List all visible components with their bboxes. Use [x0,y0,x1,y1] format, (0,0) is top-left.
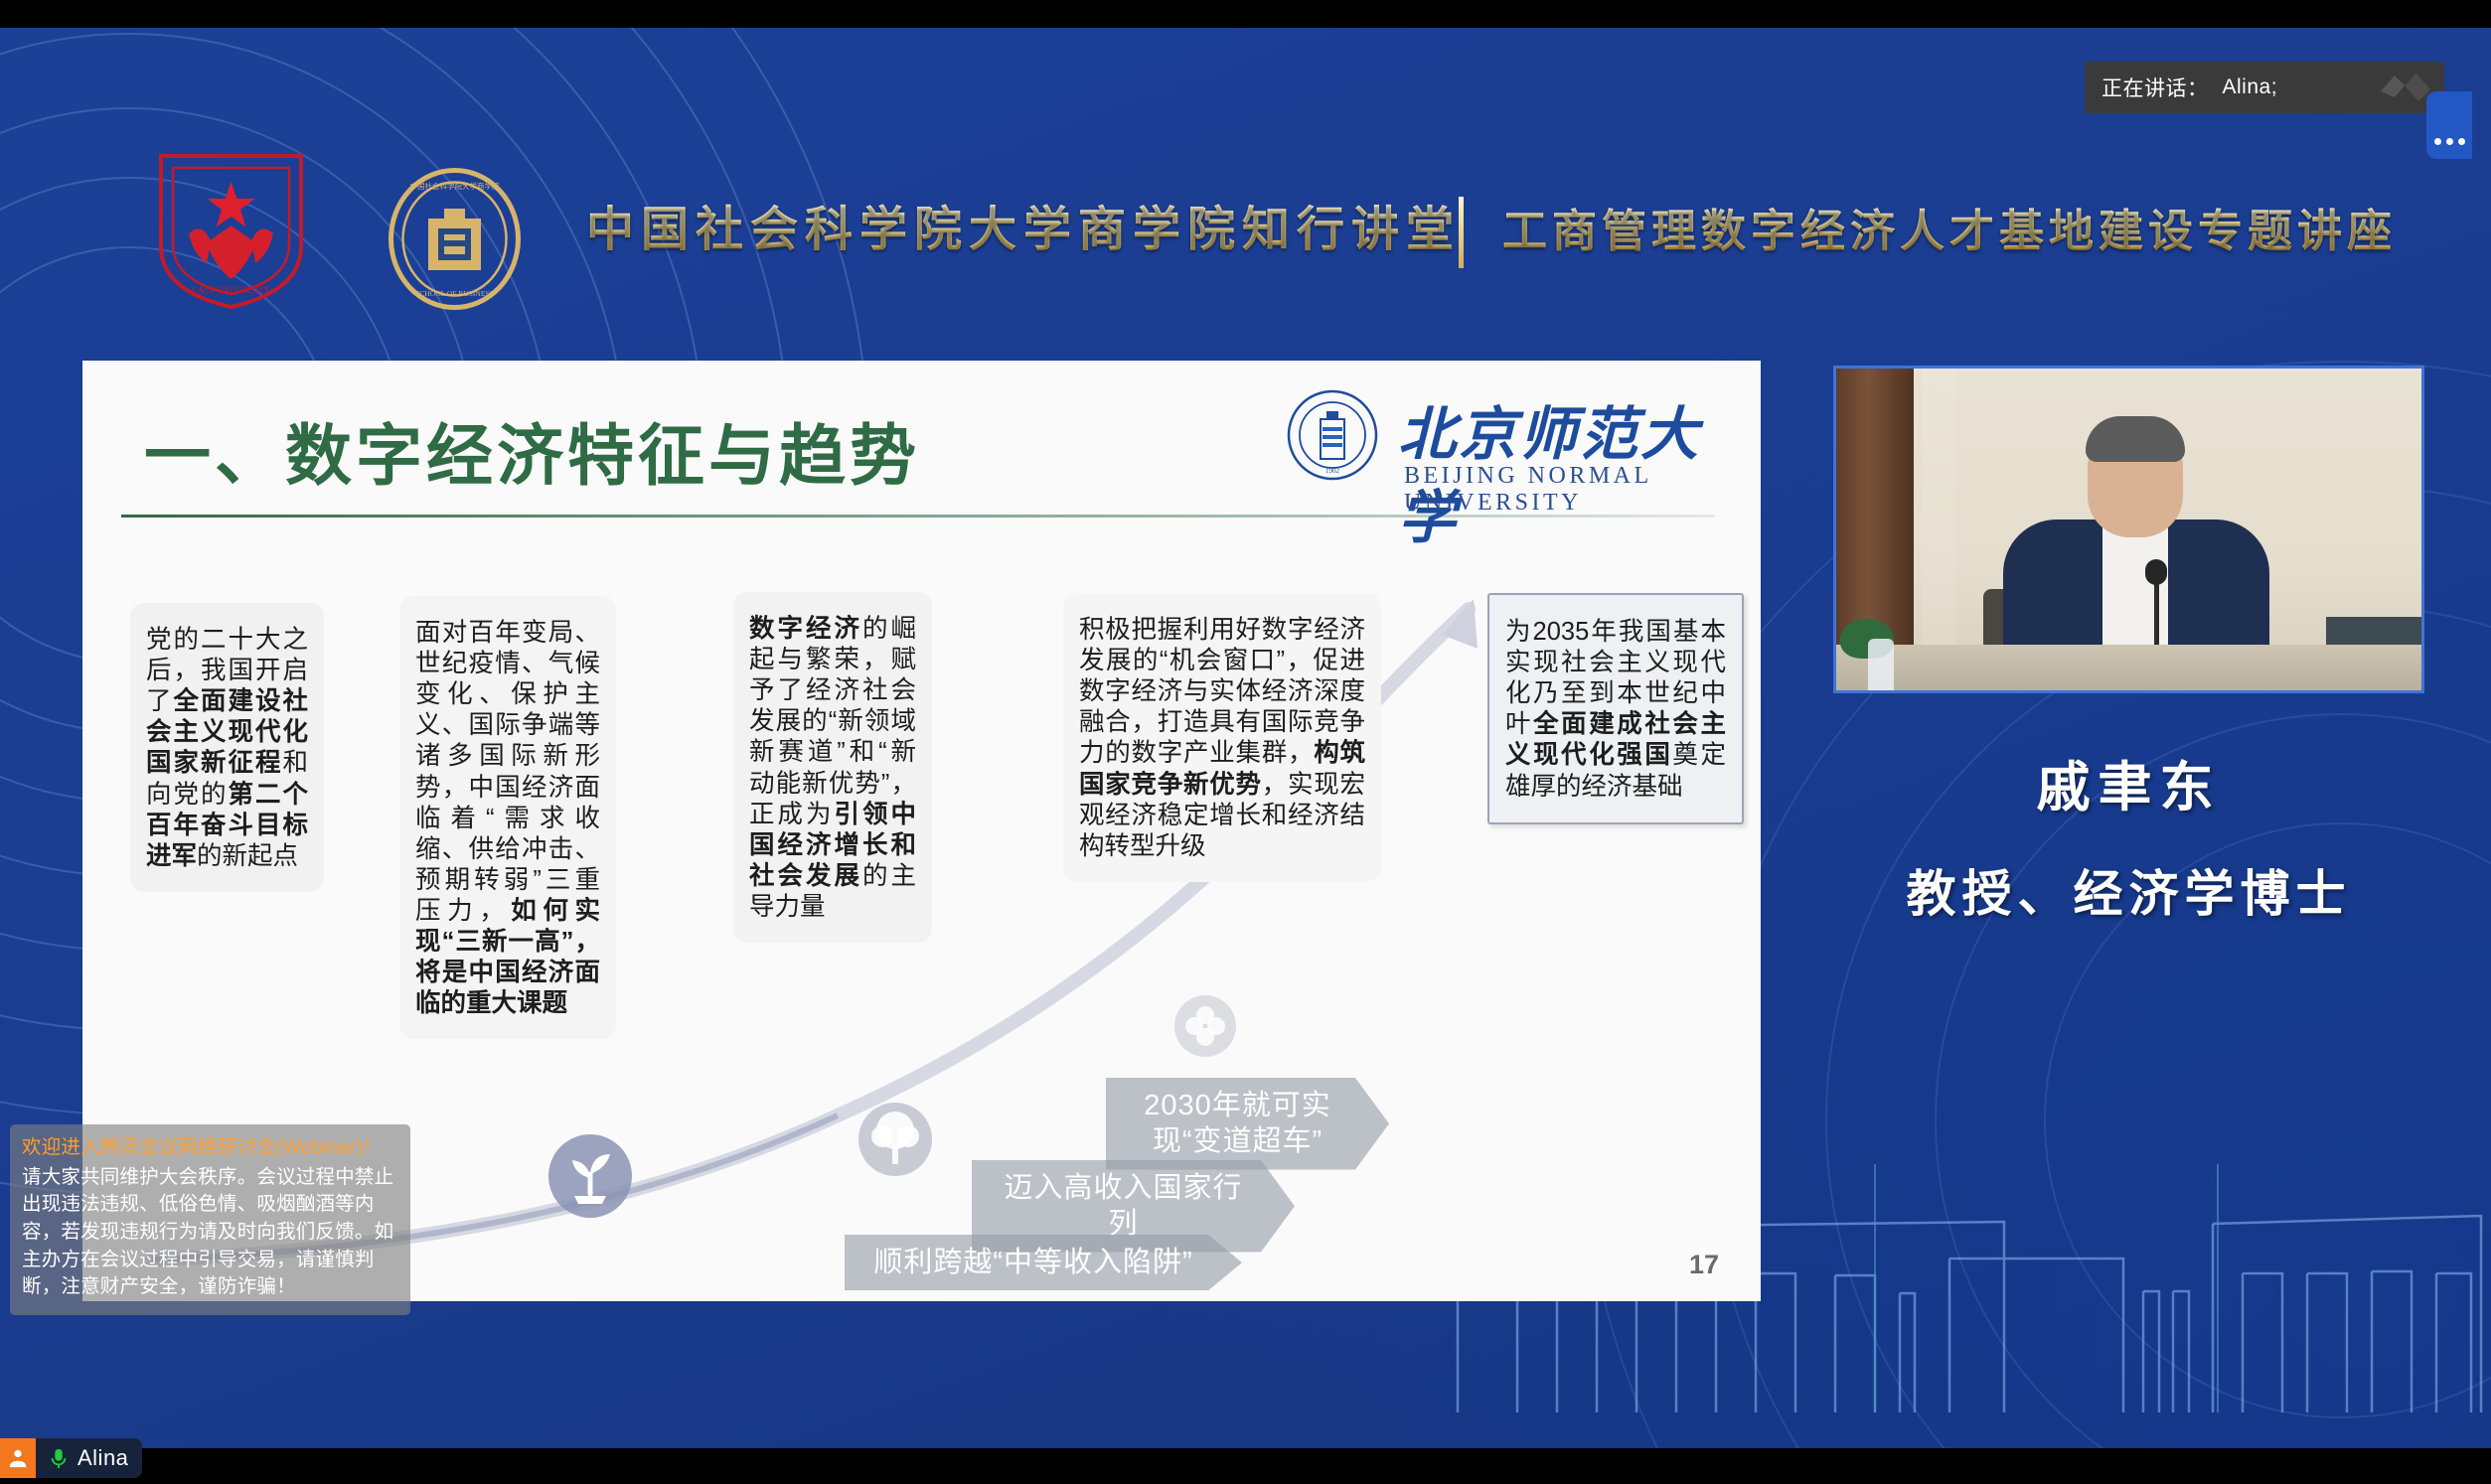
dot [2458,138,2465,145]
slide-page-number: 17 [1689,1250,1719,1280]
person-icon [7,1447,29,1469]
taskbar-user-name: Alina [78,1445,128,1471]
bnu-name-en: BEIJING NORMAL UNIVERSITY [1404,463,1744,517]
svg-text:1902: 1902 [1325,467,1340,475]
slide-title: 一、数字经济特征与趋势 [144,402,920,499]
bnu-logo: 1902 北京师范大学 BEIJING NORMAL UNIVERSITY [1287,389,1744,507]
speaker-name: 戚聿东 [1833,743,2424,821]
school-of-business-crest: 中国社会科学院大学商学院 SCHOOL OF BUSINESS [383,167,527,311]
slide-text-box-3: 数字经济的崛起与繁荣，赋予了经济社会发展的“新领域新赛道”和“新动能新优势”，正… [733,592,932,943]
dot [2434,138,2441,145]
speaking-label: 正在讲话： [2102,73,2209,102]
emphasis-text: 数字经济 [749,615,862,643]
banner-divider [1459,197,1464,268]
video-wall-panel [1922,369,1955,690]
bnu-seal-icon: 1902 [1287,389,1378,481]
webinar-notice-body: 请大家共同维护大会秩序。会议过程中禁止出现违法违规、低俗色情、吸烟酗酒等内容，若… [22,1166,393,1298]
svg-text:SCHOOL OF BUSINESS: SCHOOL OF BUSINESS [415,289,494,298]
speaker-video-tile[interactable] [1833,366,2424,693]
ribbon-label-2030: 2030年就可实现“变道超车” [1106,1078,1389,1170]
slide-text-box-5: 为2035年我国基本实现社会主义现代化乃至到本世纪中叶全面建成社会主义现代化强国… [1487,593,1744,824]
video-speaker-hair [2086,416,2185,462]
slide-text-box-1: 党的二十大之后，我国开启了全面建设社会主义现代化国家新征程和向党的第二个百年奋斗… [130,603,324,892]
taskbar: Alina [0,1448,2491,1484]
mic-icon[interactable] [48,1446,70,1470]
taskbar-user-item[interactable]: Alina [0,1438,142,1478]
ribbon-label-middle-income-trap: 顺利跨越“中等收入陷阱” [845,1235,1242,1290]
video-water-bottle [1868,639,1894,693]
svg-text:中国社会科学院大学商学院: 中国社会科学院大学商学院 [410,181,500,191]
slide-text-box-2: 面对百年变局、世纪疫情、气候变化、保护主义、国际争端等诸多国际新形势，中国经济面… [399,596,616,1039]
video-microphone-head [2145,559,2167,585]
avatar [0,1438,36,1478]
speaking-indicator: 正在讲话： Alina; [2085,62,2444,113]
body-text: 的新起点 [197,842,298,870]
body-text: 的崛起与繁荣，赋予了经济社会发展的“新领域新赛道”和“新动能新优势”，正成为 [749,615,916,828]
meeting-watermark-icon [2375,68,2434,107]
speaker-title: 教授、经济学博士 [1833,854,2424,926]
speaking-name: Alina; [2223,75,2278,99]
tree-icon [856,1101,934,1178]
svg-text:CASS UNIVERSITY: CASS UNIVERSITY [192,285,270,295]
cass-university-crest: CASS UNIVERSITY [149,142,313,311]
banner-title: 中国社会科学院大学商学院知行讲堂 [586,190,1461,259]
banner-subtitle: 工商管理数字经济人才基地建设专题讲座 [1502,195,2397,259]
sprout-icon [546,1132,634,1220]
slide-text-box-4: 积极把握利用好数字经济发展的“机会窗口”，促进数字经济与实体经济深度融合，打造具… [1063,593,1381,882]
webinar-notice: 欢迎进入腾讯会议网络研讨会(Webinar)！ 请大家共同维护大会秩序。会议过程… [10,1124,410,1315]
dot [2446,138,2453,145]
body-text: 面对百年变局、世纪疫情、气候变化、保护主义、国际争端等诸多国际新形势，中国经济面… [415,619,600,925]
screen: CASS UNIVERSITY 中国社会科学院大学商学院 SCHOOL OF B… [0,0,2491,1484]
webinar-notice-heading: 欢迎进入腾讯会议网络研讨会(Webinar)！ [22,1134,398,1162]
more-options-button[interactable] [2426,91,2472,159]
flower-icon [1172,993,1238,1059]
video-desk [1836,645,2421,690]
